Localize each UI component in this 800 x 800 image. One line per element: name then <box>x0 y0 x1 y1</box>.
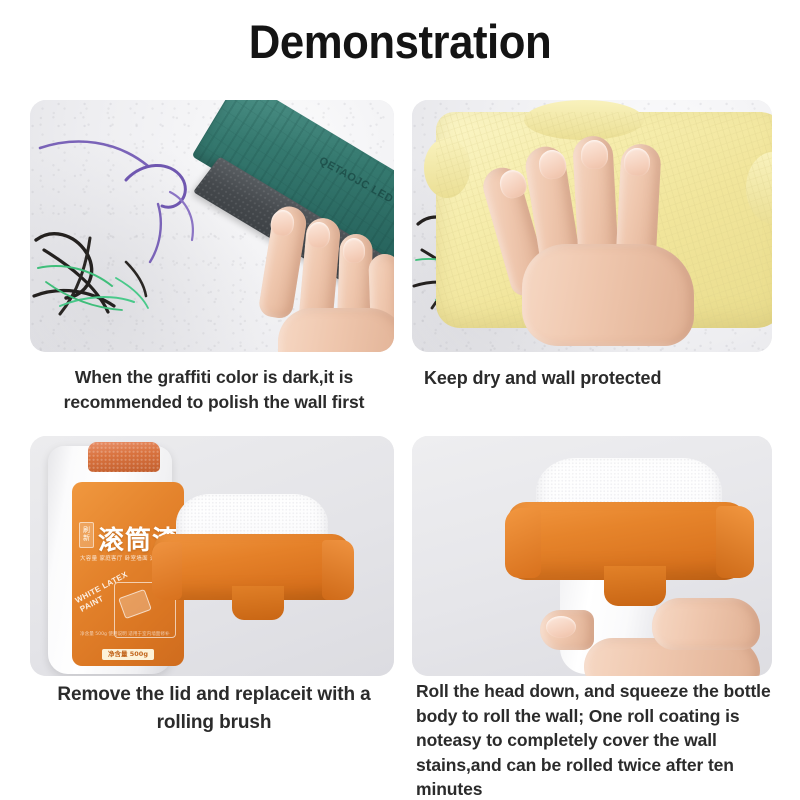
roller-bracket-left-wing <box>505 508 541 578</box>
bottle-cap <box>88 442 160 472</box>
roller-bracket-right-wing <box>716 506 754 578</box>
hand-squeezing-bottle <box>540 588 760 676</box>
step-2-image <box>412 100 772 352</box>
cloth-fold-left <box>424 138 470 198</box>
step-2-caption: Keep dry and wall protected <box>424 366 784 392</box>
step-1-caption: When the graffiti color is dark,it is re… <box>28 365 400 415</box>
steps-grid: QETAOJC LED When the graffiti color <box>0 0 800 800</box>
hand-wiping-with-cloth <box>496 124 708 348</box>
label-side-tag: 刷新 <box>79 522 94 548</box>
roller-brush <box>154 494 374 634</box>
palm <box>522 244 694 346</box>
step-3-image: 刷新 滚筒漆 大容量 家庭客厅 卧室墙面 适用各类墙面 WHITE LATEX … <box>30 436 394 676</box>
demonstration-page: Demonstration <box>0 0 800 800</box>
hand-holding-sanding-block <box>238 192 394 352</box>
roller-stem <box>232 586 284 620</box>
step-1-photo-card: QETAOJC LED <box>30 100 394 352</box>
step-1-image: QETAOJC LED <box>30 100 394 352</box>
ring-fingernail <box>581 140 608 169</box>
little-fingernail <box>623 147 650 176</box>
roller-bracket-right-wing <box>322 540 354 600</box>
step-2-photo-card <box>412 100 772 352</box>
cloth-fold-right <box>746 152 772 224</box>
step-4-image <box>412 436 772 676</box>
roller-bracket-left-wing <box>152 542 182 600</box>
ring-fingernail <box>343 238 365 263</box>
upper-fingers <box>652 598 760 650</box>
step-4-photo-card <box>412 436 772 676</box>
step-4-caption: Roll the head down, and squeeze the bott… <box>416 679 786 800</box>
thumbnail <box>546 616 576 638</box>
step-3-caption: Remove the lid and replaceit with a roll… <box>28 681 400 736</box>
label-weight-badge: 净含量 500g <box>102 649 154 660</box>
step-3-photo-card: 刷新 滚筒漆 大容量 家庭客厅 卧室墙面 适用各类墙面 WHITE LATEX … <box>30 436 394 676</box>
palm <box>278 308 394 352</box>
